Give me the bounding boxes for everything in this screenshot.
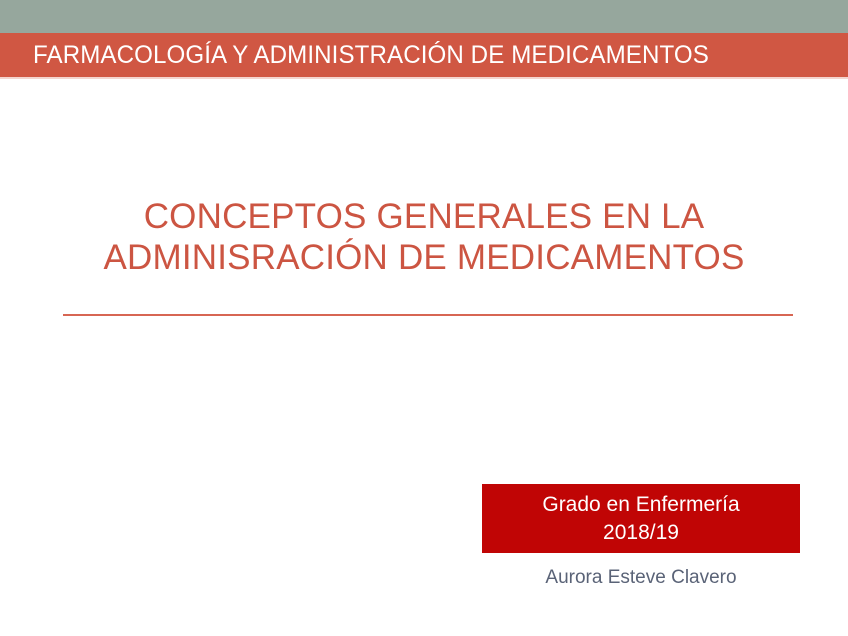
course-badge-degree: Grado en Enfermería — [542, 491, 739, 519]
sage-accent-band — [0, 0, 848, 33]
course-header-title: FARMACOLOGÍA Y ADMINISTRACIÓN DE MEDICAM… — [33, 33, 709, 77]
title-slide: FARMACOLOGÍA Y ADMINISTRACIÓN DE MEDICAM… — [0, 0, 848, 636]
header-bar-underline — [0, 77, 848, 79]
slide-title: CONCEPTOS GENERALES EN LA ADMINISRACIÓN … — [24, 196, 824, 278]
author-name: Aurora Esteve Clavero — [482, 565, 800, 591]
course-badge-academic-year: 2018/19 — [603, 519, 679, 547]
slide-title-line-1: CONCEPTOS GENERALES EN LA — [24, 196, 824, 237]
title-divider-rule — [63, 314, 793, 316]
course-badge: Grado en Enfermería 2018/19 — [482, 484, 800, 553]
slide-title-line-2: ADMINISRACIÓN DE MEDICAMENTOS — [24, 237, 824, 278]
